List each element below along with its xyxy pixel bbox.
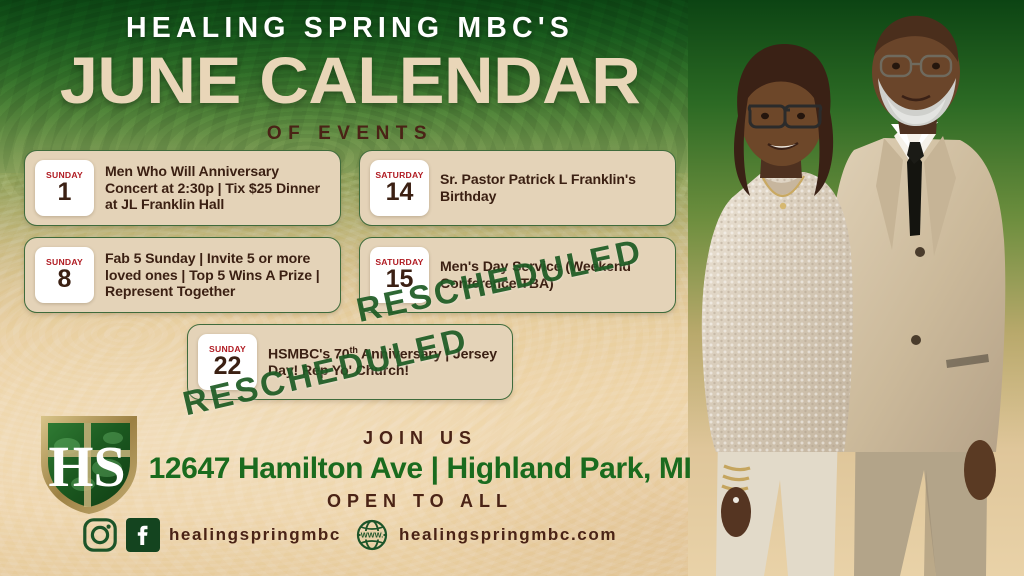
header-kicker: HEALING SPRING MBC'S (0, 14, 700, 43)
instagram-icon[interactable] (83, 518, 117, 552)
date-badge: SUNDAY 1 (35, 160, 94, 216)
event-card-june-14[interactable]: SATURDAY 14 Sr. Pastor Patrick L Frankli… (359, 150, 676, 226)
event-description: Men Who Will Anniversary Concert at 2:30… (105, 163, 326, 213)
header-subtitle: OF EVENTS (0, 123, 700, 145)
event-card-june-15[interactable]: SATURDAY 15 Men's Day Service (Weekend C… (359, 237, 676, 313)
event-text-pre: HSMBC's 70 (268, 346, 349, 362)
date-number: 8 (58, 267, 72, 292)
page-title: JUNE CALENDAR (0, 49, 714, 112)
social-bar: healingspringmbc WWW. healingspringmbc.c… (0, 518, 700, 552)
date-number: 22 (214, 354, 242, 379)
date-number: 15 (386, 267, 414, 292)
join-us-label: JOIN US (140, 428, 700, 449)
date-number: 14 (386, 180, 414, 205)
events-list: SUNDAY 1 Men Who Will Anniversary Concer… (0, 150, 700, 411)
event-card-june-1[interactable]: SUNDAY 1 Men Who Will Anniversary Concer… (24, 150, 341, 226)
events-row-1: SUNDAY 1 Men Who Will Anniversary Concer… (0, 150, 700, 226)
pastor-couple-photo (688, 0, 1024, 576)
globe-www-label: WWW. (361, 531, 384, 540)
event-description: Sr. Pastor Patrick L Franklin's Birthday (440, 171, 661, 205)
shield-initials: HS (48, 434, 125, 499)
address-line: 12647 Hamilton Ave | Highland Park, MI (140, 452, 700, 486)
facebook-icon[interactable] (126, 518, 160, 552)
event-description: Men's Day Service (Weekend Conference TB… (440, 258, 661, 292)
flyer-canvas: HEALING SPRING MBC'S JUNE CALENDAR OF EV… (0, 0, 1024, 576)
social-handle: healingspringmbc (169, 525, 341, 545)
website-url: healingspringmbc.com (399, 525, 617, 545)
date-badge: SUNDAY 22 (198, 334, 257, 390)
date-badge: SATURDAY 14 (370, 160, 429, 216)
flyer-header: HEALING SPRING MBC'S JUNE CALENDAR OF EV… (0, 14, 700, 145)
event-description: Fab 5 Sunday | Invite 5 or more loved on… (105, 250, 326, 300)
church-shield-logo: HS (37, 410, 141, 518)
date-number: 1 (58, 180, 72, 205)
date-badge: SUNDAY 8 (35, 247, 94, 303)
events-row-2: SUNDAY 8 Fab 5 Sunday | Invite 5 or more… (0, 237, 700, 313)
globe-icon[interactable]: WWW. (356, 519, 388, 551)
event-card-june-22[interactable]: SUNDAY 22 HSMBC's 70th Anniversary | Jer… (187, 324, 513, 400)
date-badge: SATURDAY 15 (370, 247, 429, 303)
join-us-block: JOIN US 12647 Hamilton Ave | Highland Pa… (140, 428, 700, 512)
open-to-all-label: OPEN TO ALL (140, 491, 700, 512)
event-description: HSMBC's 70th Anniversary | Jersey Day! R… (268, 345, 498, 379)
event-card-june-8[interactable]: SUNDAY 8 Fab 5 Sunday | Invite 5 or more… (24, 237, 341, 313)
ordinal-suffix: th (349, 345, 357, 355)
events-row-3: SUNDAY 22 HSMBC's 70th Anniversary | Jer… (0, 324, 700, 400)
